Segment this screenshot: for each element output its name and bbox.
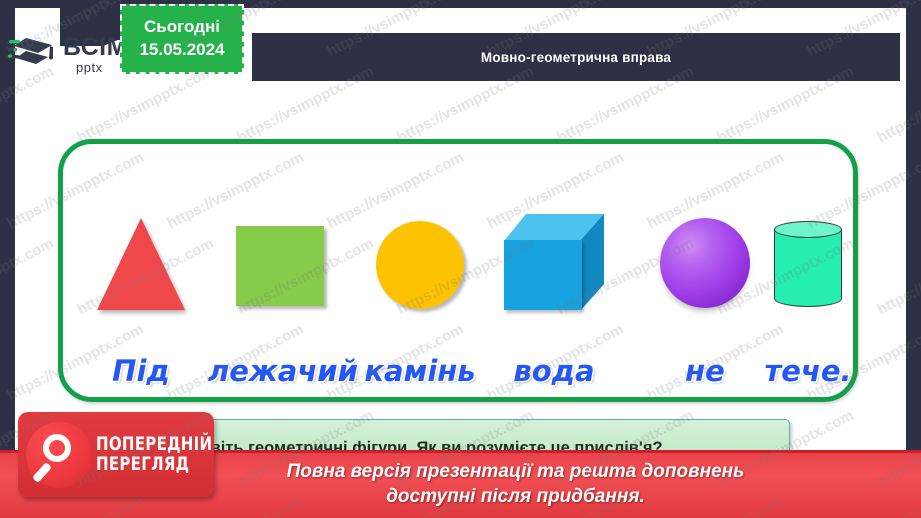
word-label: тече. xyxy=(758,354,858,388)
preview-badge: ПОПЕРЕДНІЙ ПЕРЕГЛЯД xyxy=(18,412,214,497)
today-date-badge: Сьогодні 15.05.2024 xyxy=(120,4,244,74)
slide-title-bar: Мовно-геометрична вправа xyxy=(252,33,900,81)
magnifier-handle xyxy=(32,462,52,483)
word-label: лежачий xyxy=(208,354,352,388)
item-circle: камінь xyxy=(348,139,492,402)
magnifier-lens xyxy=(43,434,71,462)
graduation-cap-icon xyxy=(6,34,62,74)
item-sphere: не xyxy=(645,139,765,402)
logo-text: ВСІМ pptx xyxy=(63,35,128,74)
word-label: не xyxy=(645,354,765,388)
cube-shape xyxy=(504,214,604,310)
shape-slot xyxy=(645,210,765,310)
magnifier-icon xyxy=(26,422,92,488)
circle-shape xyxy=(376,221,464,309)
sphere-shape xyxy=(660,218,750,308)
cube-front-face xyxy=(504,240,582,310)
shape-slot xyxy=(758,210,858,310)
brand-logo: ВСІМ pptx xyxy=(6,30,128,78)
shape-slot xyxy=(486,210,622,310)
shape-slot xyxy=(58,210,224,310)
purchase-banner-line1: Повна версія презентації та решта доповн… xyxy=(110,459,921,484)
preview-badge-text: ПОПЕРЕДНІЙ ПЕРЕГЛЯД xyxy=(96,435,228,475)
item-cylinder: тече. xyxy=(758,139,858,402)
cylinder-top xyxy=(774,221,842,238)
shape-slot xyxy=(348,210,492,310)
logo-title: ВСІМ xyxy=(63,35,128,60)
word-label: Під xyxy=(58,354,224,388)
cylinder-shape xyxy=(774,221,842,307)
purchase-banner-line2: доступні після придбання. xyxy=(110,484,921,509)
cylinder-body xyxy=(774,229,842,299)
item-triangle: Під xyxy=(58,139,224,402)
shape-word-row: Під лежачий камінь вода xyxy=(58,139,858,402)
preview-badge-line2: ПЕРЕГЛЯД xyxy=(96,455,212,475)
today-label: Сьогодні xyxy=(144,16,220,39)
square-shape xyxy=(236,226,324,306)
triangle-shape xyxy=(97,218,185,310)
item-square: лежачий xyxy=(208,139,352,402)
shape-slot xyxy=(208,210,352,310)
preview-badge-line1: ПОПЕРЕДНІЙ xyxy=(96,435,212,455)
item-cube: вода xyxy=(486,139,622,402)
today-date: 15.05.2024 xyxy=(139,39,224,62)
page-title: Мовно-геометрична вправа xyxy=(481,50,671,65)
word-label: камінь xyxy=(348,354,492,388)
word-label: вода xyxy=(486,354,622,388)
slide-stage: ВСІМ pptx Сьогодні 15.05.2024 Мовно-геом… xyxy=(0,0,921,518)
